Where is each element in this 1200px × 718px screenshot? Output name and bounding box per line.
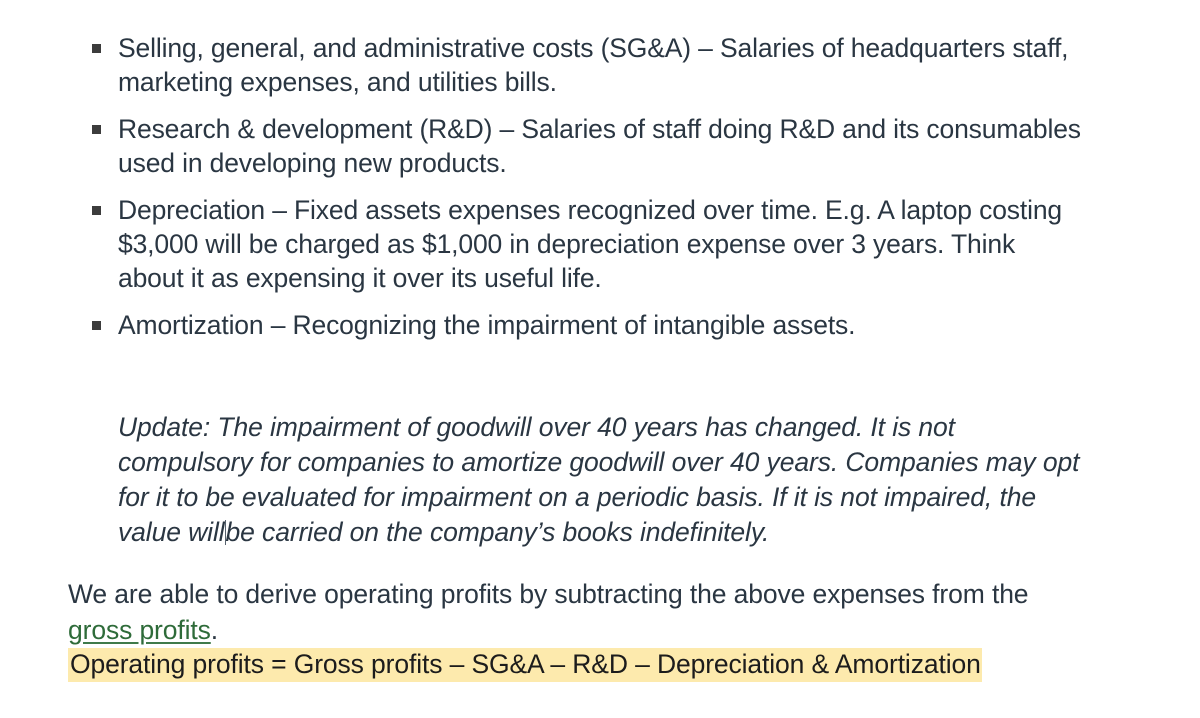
paragraph-text-before-link: We are able to derive operating profits … [68,579,1028,609]
highlighted-formula: Operating profits = Gross profits – SG&A… [68,648,982,682]
list-item: Amortization – Recognizing the impairmen… [92,308,1082,342]
list-item-text: Depreciation – Fixed assets expenses rec… [118,195,1062,293]
list-item-text: Research & development (R&D) – Salaries … [118,114,1081,178]
list-item: Selling, general, and administrative cos… [92,31,1082,99]
square-bullet-icon [92,125,101,134]
text-cursor-caret [225,520,226,545]
square-bullet-icon [92,44,101,53]
formula-line: Operating profits = Gross profits – SG&A… [68,645,1108,683]
update-note-paragraph: Update: The impairment of goodwill over … [118,410,1080,550]
list-item-text: Amortization – Recognizing the impairmen… [118,310,855,340]
list-item-text: Selling, general, and administrative cos… [118,33,1068,97]
gross-profits-link[interactable]: gross profits [68,615,211,645]
square-bullet-icon [92,206,101,215]
list-item: Research & development (R&D) – Salaries … [92,112,1082,180]
document-page: Selling, general, and administrative cos… [0,0,1200,718]
square-bullet-icon [92,321,101,330]
update-note-text-part2: be carried on the company’s books indefi… [226,517,770,547]
paragraph-text-after-link: . [211,615,218,645]
list-item: Depreciation – Fixed assets expenses rec… [92,193,1082,295]
expense-category-list: Selling, general, and administrative cos… [92,31,1082,342]
derivation-paragraph: We are able to derive operating profits … [68,576,1083,648]
